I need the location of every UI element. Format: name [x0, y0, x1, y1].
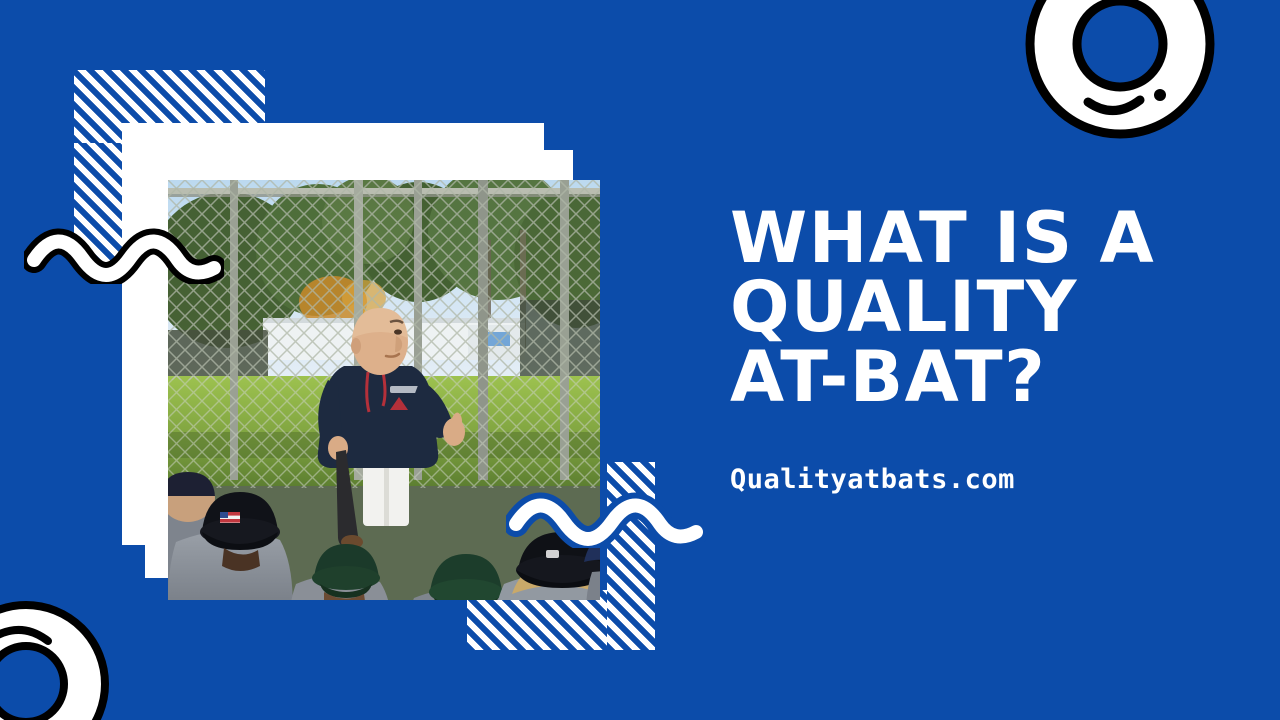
page-title: WHAT IS A QUALITY AT-BAT?	[730, 204, 1230, 412]
donut-ring-icon-bottom-left	[0, 596, 114, 720]
promo-graphic-canvas: WHAT IS A QUALITY AT-BAT? Qualityatbats.…	[0, 0, 1280, 720]
wavy-line-decoration-right	[506, 482, 706, 548]
text-block: WHAT IS A QUALITY AT-BAT? Qualityatbats.…	[730, 204, 1230, 495]
website-url: Qualityatbats.com	[730, 412, 1230, 495]
donut-ring-icon-top-right	[1020, 0, 1220, 144]
wavy-line-decoration-left	[24, 218, 224, 284]
